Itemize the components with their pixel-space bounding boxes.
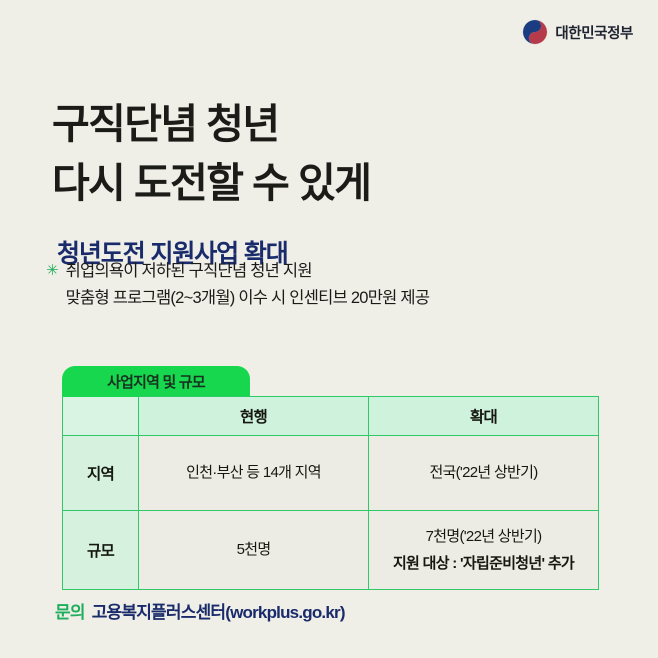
cell-scale-expanded-note: 지원 대상 : '자립준비청년' 추가 xyxy=(373,552,594,575)
table-corner-cell xyxy=(63,397,139,436)
cell-region-current: 인천·부산 등 14개 지역 xyxy=(139,436,369,511)
table-header-row: 현행 확대 xyxy=(63,397,599,436)
cell-region-expanded-main: 전국('22년 상반기) xyxy=(429,464,537,481)
page-headline: 구직단념 청년 다시 도전할 수 있게 xyxy=(52,95,370,211)
cell-region-expanded: 전국('22년 상반기) xyxy=(369,436,599,511)
comparison-table: 현행 확대 지역 인천·부산 등 14개 지역 전국('22년 상반기) 규모 … xyxy=(62,396,599,590)
footer-inquiry-value[interactable]: 고용복지플러스센터(workplus.go.kr) xyxy=(92,598,345,623)
asterisk-bullet-icon: ✳ xyxy=(46,258,59,282)
row-header-region: 지역 xyxy=(63,436,139,511)
korean-taeguk-emblem-icon xyxy=(522,19,548,45)
program-description: ✳ 취업의욕이 저하된 구직단념 청년 지원 맞춤형 프로그램(2~3개월) 이… xyxy=(46,258,429,311)
cell-scale-current: 5천명 xyxy=(139,511,369,590)
program-scope-table: 사업지역 및 규모 현행 확대 지역 인천·부산 등 14개 지역 전국('22… xyxy=(62,366,598,590)
row-header-scale: 규모 xyxy=(63,511,139,590)
table-tab: 사업지역 및 규모 xyxy=(62,366,250,396)
footer-inquiry-label: 문의 xyxy=(55,598,85,623)
column-header-current: 현행 xyxy=(139,397,369,436)
footer-contact: 문의 고용복지플러스센터(workplus.go.kr) xyxy=(55,598,345,623)
column-header-expanded: 확대 xyxy=(369,397,599,436)
table-tab-label: 사업지역 및 규모 xyxy=(107,371,205,392)
government-brand-label: 대한민국정부 xyxy=(555,22,633,43)
cell-scale-expanded-main: 7천명('22년 상반기) xyxy=(426,528,542,545)
cell-scale-expanded: 7천명('22년 상반기) 지원 대상 : '자립준비청년' 추가 xyxy=(369,511,599,590)
program-description-text: 취업의욕이 저하된 구직단념 청년 지원 맞춤형 프로그램(2~3개월) 이수 … xyxy=(66,258,430,311)
table-row: 지역 인천·부산 등 14개 지역 전국('22년 상반기) xyxy=(63,436,599,511)
table-row: 규모 5천명 7천명('22년 상반기) 지원 대상 : '자립준비청년' 추가 xyxy=(63,511,599,590)
government-brand: 대한민국정부 xyxy=(522,19,633,45)
